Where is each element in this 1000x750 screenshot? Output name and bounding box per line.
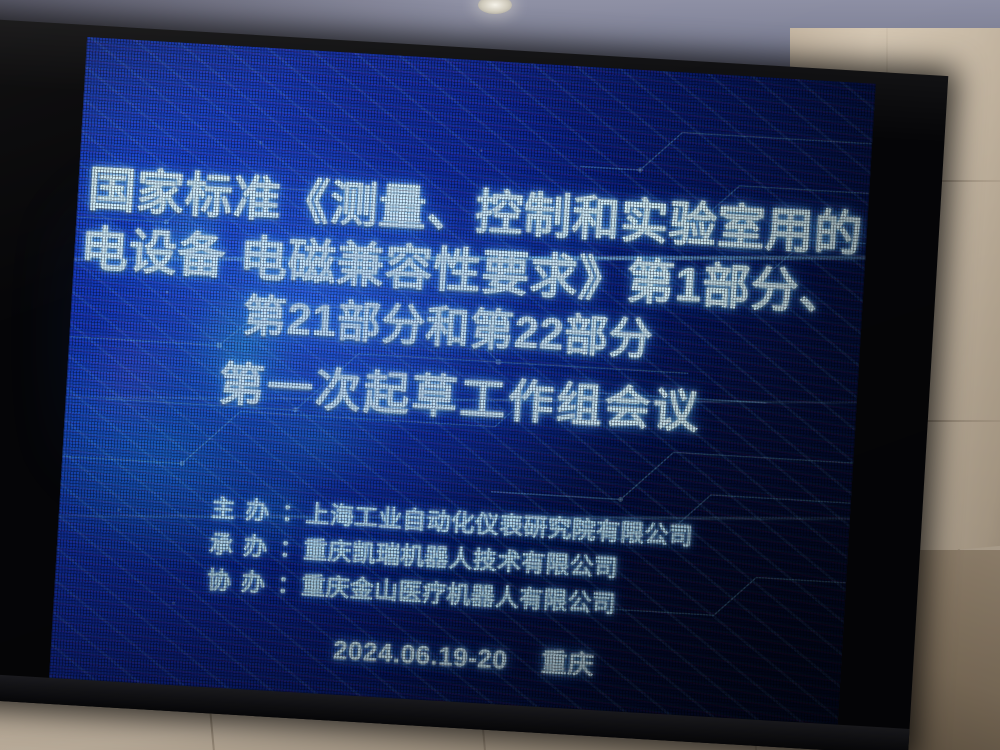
slide-content: 国家标准《测量、控制和实验室用的 电设备 电磁兼容性要求》第1部分、 第21部分… xyxy=(49,37,876,731)
led-display-panel[interactable]: 国家标准《测量、控制和实验室用的 电设备 电磁兼容性要求》第1部分、 第21部分… xyxy=(49,37,876,731)
conference-room-photo: 国家标准《测量、控制和实验室用的 电设备 电磁兼容性要求》第1部分、 第21部分… xyxy=(0,0,1000,750)
organizer-undertaker-label: 承办 xyxy=(208,531,278,562)
slide-footer: 2024.06.19-20重庆 xyxy=(332,630,595,682)
organizer-host-sep: ： xyxy=(281,499,307,527)
screen-housing-frame: 国家标准《测量、控制和实验室用的 电设备 电磁兼容性要求》第1部分、 第21部分… xyxy=(0,18,948,750)
organizer-undertaker-sep: ： xyxy=(278,535,304,563)
organizer-coorganizer-label: 协办 xyxy=(206,567,276,598)
event-city: 重庆 xyxy=(540,647,595,680)
event-date: 2024.06.19-20 xyxy=(332,635,508,675)
organizer-host-label: 主办 xyxy=(211,495,281,526)
organizer-coorganizer-sep: ： xyxy=(276,571,302,599)
